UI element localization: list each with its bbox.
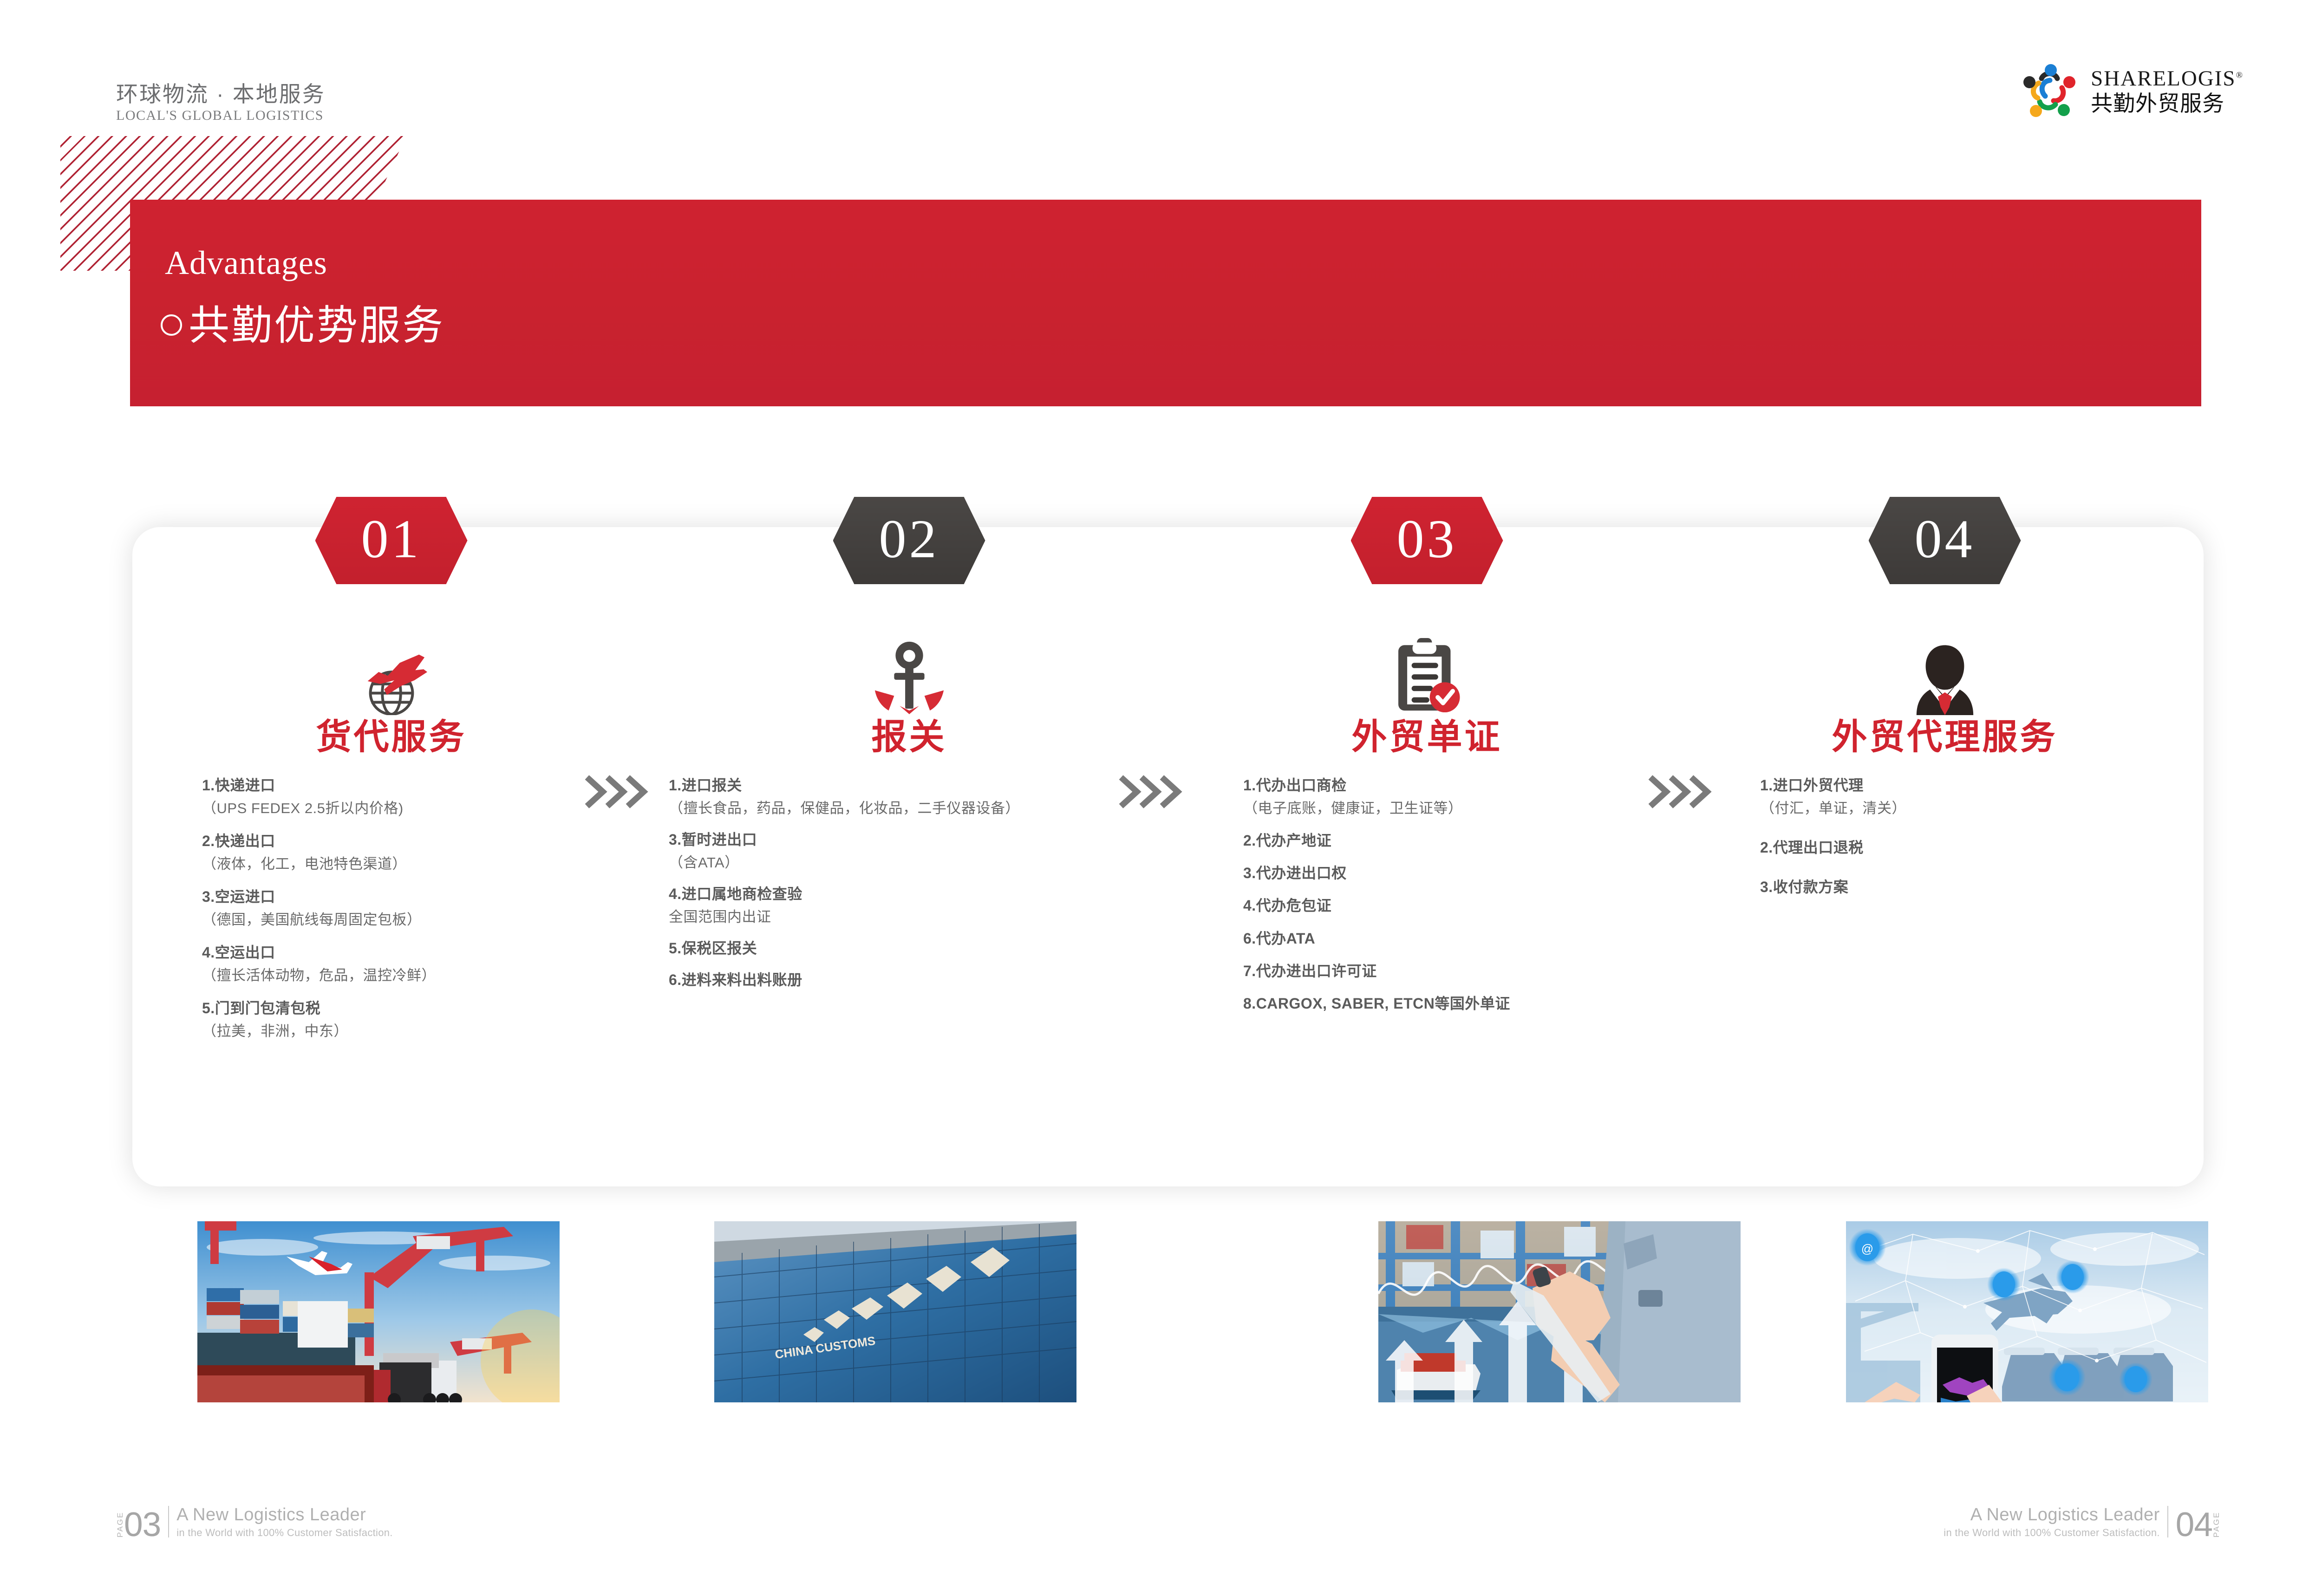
- footer-tagline-line1: A New Logistics Leader: [1944, 1505, 2160, 1525]
- list-item-main: 7.代办进出口许可证: [1243, 961, 1681, 981]
- list-item: 2.代理出口退税: [1760, 838, 2199, 858]
- column-list-1: 1.快递进口（UPS FEDEX 2.5折以内价格) 2.快递出口（液体，化工，…: [132, 775, 650, 1054]
- list-item-sub: （付汇，单证，清关）: [1760, 799, 2199, 818]
- column-list-4: 1.进口外贸代理（付汇，单证，清关） 2.代理出口退税 3.收付款方案: [1686, 775, 2204, 917]
- brand-tagline-en: LOCAL'S GLOBAL LOGISTICS: [116, 108, 326, 124]
- page-label: PAGE: [116, 1511, 124, 1537]
- column-list-3: 1.代办出口商检（电子底账，健康证，卫生证等） 2.代办产地证 3.代办进出口权…: [1168, 775, 1686, 1026]
- footer-tagline: A New Logistics Leader in the World with…: [176, 1505, 393, 1539]
- list-item-main: 3.空运进口: [202, 887, 636, 907]
- list-item: 4.空运出口（擅长活体动物，危品，温控冷鲜）: [202, 943, 636, 985]
- list-item-main: 2.代理出口退税: [1760, 838, 2199, 858]
- step-badge-3: 03: [1351, 497, 1503, 584]
- tablet-smart-logistics-photo: @: [1846, 1221, 2208, 1402]
- section-title-en: Advantages: [165, 244, 327, 282]
- footer-divider: [2167, 1506, 2168, 1537]
- section-banner: Advantages 共勤优势服务: [130, 200, 2201, 406]
- step-badge-4: 04: [1869, 497, 2021, 584]
- businessman-icon: [1686, 627, 2204, 715]
- list-item: 3.暂时进出口（含ATA）: [669, 830, 1163, 873]
- advantage-column-4[interactable]: 04 外贸代理服务 1.进口外贸代理（付汇，单证，清关） 2.代理出口退税 3.…: [1686, 492, 2204, 1207]
- advantage-column-1[interactable]: 01 货代服务 1.快递进口（UPS FEDEX 2.5折以内价格) 2.快递出…: [132, 492, 650, 1207]
- list-item-main: 3.收付款方案: [1760, 877, 2199, 897]
- footer-tagline-line1: A New Logistics Leader: [176, 1505, 393, 1525]
- page-number: 03: [124, 1511, 161, 1539]
- list-item-main: 2.快递出口: [202, 831, 636, 851]
- footer-left: PAGE 03 A New Logistics Leader in the Wo…: [116, 1505, 393, 1539]
- list-item-main: 1.进口外贸代理: [1760, 775, 2199, 795]
- list-item-main: 3.暂时进出口: [669, 830, 1163, 850]
- list-item-main: 3.代办进出口权: [1243, 863, 1681, 883]
- header-brand-block: 环球物流 · 本地服务 LOCAL'S GLOBAL LOGISTICS: [116, 81, 326, 124]
- inspector-chart-port-photo: [1378, 1221, 1741, 1402]
- list-item-main: 2.代办产地证: [1243, 831, 1681, 851]
- list-item-main: 1.快递进口: [202, 775, 636, 795]
- list-item-main: 1.代办出口商检: [1243, 775, 1681, 795]
- column-title-1: 货代服务: [132, 720, 650, 755]
- china-customs-building-photo: CHINA CUSTOMS: [714, 1221, 1076, 1402]
- registered-mark: ®: [2236, 71, 2244, 80]
- clipboard-check-icon: [1168, 627, 1686, 715]
- list-item-main: 6.进料来料出料账册: [669, 970, 1163, 990]
- list-item-sub: （液体，化工，电池特色渠道）: [202, 854, 636, 874]
- footer-right: A New Logistics Leader in the World with…: [1944, 1505, 2220, 1539]
- list-item: 5.保税区报关: [669, 938, 1163, 958]
- column-title-2: 报关: [650, 720, 1168, 755]
- footer-divider: [168, 1506, 169, 1537]
- list-item: 6.代办ATA: [1243, 929, 1681, 949]
- triple-chevron-right-icon: [1644, 771, 1714, 813]
- advantage-column-3[interactable]: 03: [1168, 492, 1686, 1207]
- list-item-main: 6.代办ATA: [1243, 929, 1681, 949]
- list-item: 1.进口报关（擅长食品，药品，保健品，化妆品，二手仪器设备）: [669, 775, 1163, 818]
- list-item-sub: （UPS FEDEX 2.5折以内价格): [202, 799, 636, 818]
- column-list-2: 1.进口报关（擅长食品，药品，保健品，化妆品，二手仪器设备） 3.暂时进出口（含…: [650, 775, 1168, 1002]
- footer-tagline-line2: in the World with 100% Customer Satisfac…: [1944, 1527, 2160, 1539]
- company-logo: SHARELOGIS® 共勤外贸服务: [2021, 62, 2244, 121]
- circle-bullet-icon: [161, 314, 182, 336]
- column-title-4: 外贸代理服务: [1686, 720, 2204, 755]
- list-item-sub: （德国，美国航线每周固定包板）: [202, 910, 636, 930]
- list-item-sub: （拉美，非洲，中东）: [202, 1022, 636, 1041]
- list-item-sub: （含ATA）: [669, 853, 1163, 873]
- list-item-sub: （擅长活体动物，危品，温控冷鲜）: [202, 966, 636, 985]
- list-item: 5.门到门包清包税（拉美，非洲，中东）: [202, 998, 636, 1041]
- airplane-globe-icon: [132, 627, 650, 715]
- list-item-sub: （擅长食品，药品，保健品，化妆品，二手仪器设备）: [669, 799, 1163, 818]
- list-item-main: 8.CARGOX, SABER, ETCN等国外单证: [1243, 994, 1681, 1014]
- list-item-sub: 全国范围内出证: [669, 907, 1163, 927]
- brand-tagline-cn: 环球物流 · 本地服务: [116, 81, 326, 107]
- anchor-icon: [650, 627, 1168, 715]
- list-item: 4.代办危包证: [1243, 896, 1681, 916]
- logo-wordmark-cn: 共勤外贸服务: [2091, 92, 2244, 115]
- slide-page: 环球物流 · 本地服务 LOCAL'S GLOBAL LOGISTICS: [0, 0, 2322, 1596]
- list-item: 4.进口属地商检查验全国范围内出证: [669, 884, 1163, 927]
- list-item-main: 5.门到门包清包税: [202, 998, 636, 1018]
- footer-tagline-line2: in the World with 100% Customer Satisfac…: [176, 1527, 393, 1539]
- list-item-main: 1.进口报关: [669, 775, 1163, 795]
- advantage-column-2[interactable]: 02 报关 1.进口报关（擅长食品，药品，保健品，: [650, 492, 1168, 1207]
- page-label: PAGE: [2212, 1511, 2220, 1537]
- svg-text:@: @: [1861, 1242, 1873, 1256]
- port-crane-truck-photo: [197, 1221, 560, 1402]
- section-title-cn-row: 共勤优势服务: [161, 293, 445, 352]
- list-item: 7.代办进出口许可证: [1243, 961, 1681, 981]
- list-item-main: 4.空运出口: [202, 943, 636, 963]
- section-title-cn: 共勤优势服务: [189, 293, 445, 352]
- list-item: 3.代办进出口权: [1243, 863, 1681, 883]
- step-badge-2: 02: [833, 497, 985, 584]
- triple-chevron-right-icon: [1115, 771, 1184, 813]
- triple-chevron-right-icon: [580, 771, 650, 813]
- list-item: 1.进口外贸代理（付汇，单证，清关）: [1760, 775, 2199, 818]
- list-item: 2.代办产地证: [1243, 831, 1681, 851]
- page-number: 04: [2176, 1511, 2212, 1539]
- step-badge-1: 01: [315, 497, 468, 584]
- list-item: 3.收付款方案: [1760, 877, 2199, 897]
- list-item-main: 4.代办危包证: [1243, 896, 1681, 916]
- logo-wordmark-en: SHARELOGIS®: [2091, 68, 2244, 90]
- list-item-main: 5.保税区报关: [669, 938, 1163, 958]
- logo-wordmark-text: SHARELOGIS: [2091, 66, 2236, 91]
- column-title-3: 外贸单证: [1168, 720, 1686, 755]
- list-item-sub: （电子底账，健康证，卫生证等）: [1243, 799, 1681, 818]
- list-item: 3.空运进口（德国，美国航线每周固定包板）: [202, 887, 636, 930]
- footer-tagline: A New Logistics Leader in the World with…: [1944, 1505, 2160, 1539]
- list-item: 6.进料来料出料账册: [669, 970, 1163, 990]
- advantages-columns: 01 货代服务 1.快递进口（UPS FEDEX 2.5折以内价格) 2.快递出…: [132, 492, 2204, 1207]
- list-item: 1.代办出口商检（电子底账，健康证，卫生证等）: [1243, 775, 1681, 818]
- list-item: 1.快递进口（UPS FEDEX 2.5折以内价格): [202, 775, 636, 818]
- list-item-main: 4.进口属地商检查验: [669, 884, 1163, 904]
- list-item: 2.快递出口（液体，化工，电池特色渠道）: [202, 831, 636, 874]
- list-item: 8.CARGOX, SABER, ETCN等国外单证: [1243, 994, 1681, 1014]
- sharelogis-people-mark-icon: [2021, 62, 2081, 121]
